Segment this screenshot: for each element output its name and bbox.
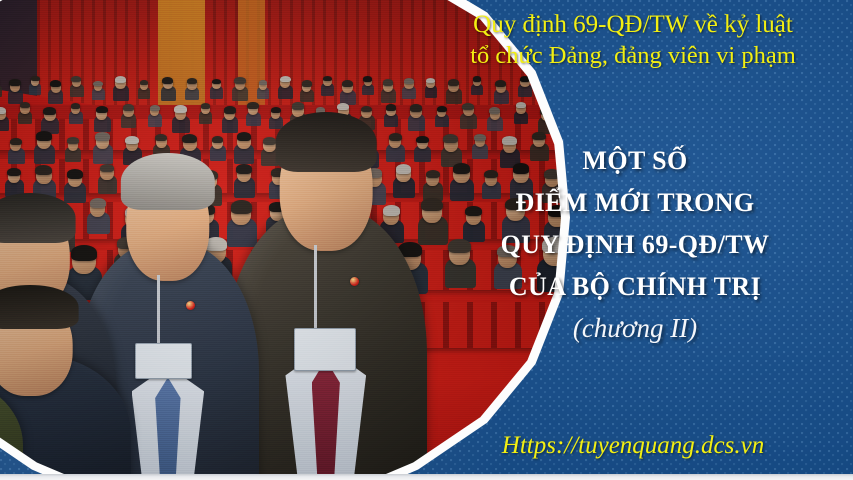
audience-member-hair: [35, 165, 52, 175]
headline: Quy định 69-QĐ/TW về kỷ luật tổ chức Đản…: [421, 10, 845, 70]
audience-member-hair: [259, 80, 268, 85]
audience-member-hair: [410, 104, 423, 112]
audience-member-hair: [96, 106, 108, 113]
audience-member-hair: [36, 131, 51, 140]
audience-member-hair: [234, 77, 245, 84]
audience-member-head: [541, 108, 553, 121]
audience-member-hair: [0, 107, 6, 114]
audience-member-hair: [271, 107, 281, 113]
audience-member-hair: [93, 81, 102, 87]
audience-member-hair: [495, 80, 506, 87]
audience-member-hair: [201, 103, 211, 109]
audience-member-hair: [174, 105, 187, 113]
audience-member-hair: [236, 164, 252, 174]
audience-member-hair: [67, 137, 79, 144]
main-title-line-2: ĐIỂM MỚI TRONG: [421, 182, 849, 224]
audience-member-hair: [520, 76, 530, 82]
audience-member-hair: [532, 132, 545, 140]
audience-member-hair: [125, 136, 138, 144]
audience-member-hair: [247, 102, 258, 109]
audience-member-hair: [123, 104, 134, 111]
audience-member-hair: [342, 80, 353, 87]
audience-member-hair: [224, 106, 236, 113]
audience-member-hair: [263, 137, 276, 145]
audience-member-hair: [43, 107, 56, 115]
infographic-banner: Quy định 69-QĐ/TW về kỷ luật tổ chức Đản…: [0, 0, 853, 480]
audience-member-hair: [426, 78, 435, 84]
audience-member-hair: [292, 102, 305, 110]
audience-member-hair: [361, 106, 372, 113]
audience-member-hair: [90, 198, 106, 208]
audience-member-hair: [448, 79, 459, 86]
audience-member-hair: [95, 132, 109, 141]
audience-member-hair: [389, 133, 402, 141]
headline-line-2: tổ chức Đảng, đảng viên vi phạm: [421, 41, 845, 71]
audience-member-hair: [212, 79, 221, 85]
audience-member-hair: [462, 103, 474, 110]
audience-member-hair: [155, 134, 167, 141]
audience-member-hair: [437, 106, 447, 112]
audience-member-body: [0, 85, 2, 97]
audience-member-hair: [237, 132, 251, 141]
audience-member-hair: [182, 134, 197, 143]
audience-member-hair: [396, 164, 412, 174]
audience-member-hair: [363, 76, 372, 81]
audience-member-hair: [71, 103, 81, 109]
audience-member-hair: [337, 103, 349, 110]
audience-member-hair: [302, 80, 312, 86]
audience-member-hair: [100, 164, 114, 173]
main-title-line-1: MỘT SỐ: [421, 140, 849, 182]
audience-member-hair: [9, 79, 20, 86]
main-title-line-3: QUY ĐỊNH 69-QĐ/TW: [421, 224, 849, 266]
audience-member-hair: [10, 138, 22, 145]
bottom-strip: [0, 474, 853, 480]
audience-member-hair: [140, 80, 149, 85]
audience-member-hair: [212, 136, 224, 143]
headline-line-1: Quy định 69-QĐ/TW về kỷ luật: [421, 10, 845, 41]
audience-member-hair: [323, 76, 332, 82]
audience-member-hair: [150, 105, 160, 111]
audience-member-hair: [516, 102, 526, 108]
audience-member-hair: [473, 76, 482, 81]
audience-member-hair: [67, 169, 83, 179]
main-title-line-4: CỦA BỘ CHÍNH TRỊ: [421, 266, 849, 308]
audience-member-hair: [20, 102, 30, 108]
audience-member-hair: [280, 76, 291, 83]
audience-member-hair: [386, 104, 396, 110]
audience-member-hair: [7, 168, 20, 176]
main-title: MỘT SỐ ĐIỂM MỚI TRONG QUY ĐỊNH 69-QĐ/TW …: [421, 140, 849, 308]
chapter-label: (chương II): [421, 313, 849, 344]
audience-member-hair: [31, 76, 40, 81]
audience-member-hair: [162, 77, 173, 84]
audience-member-hair: [489, 107, 500, 114]
audience-member-hair: [71, 76, 81, 82]
audience-member-hair: [115, 76, 126, 83]
audience-member-hair: [383, 79, 394, 86]
site-url[interactable]: Https://tuyenquang.dcs.vn: [423, 432, 843, 460]
audience-member-hair: [404, 78, 414, 84]
audience-member-hair: [50, 80, 61, 87]
audience-member-hair: [187, 78, 197, 84]
